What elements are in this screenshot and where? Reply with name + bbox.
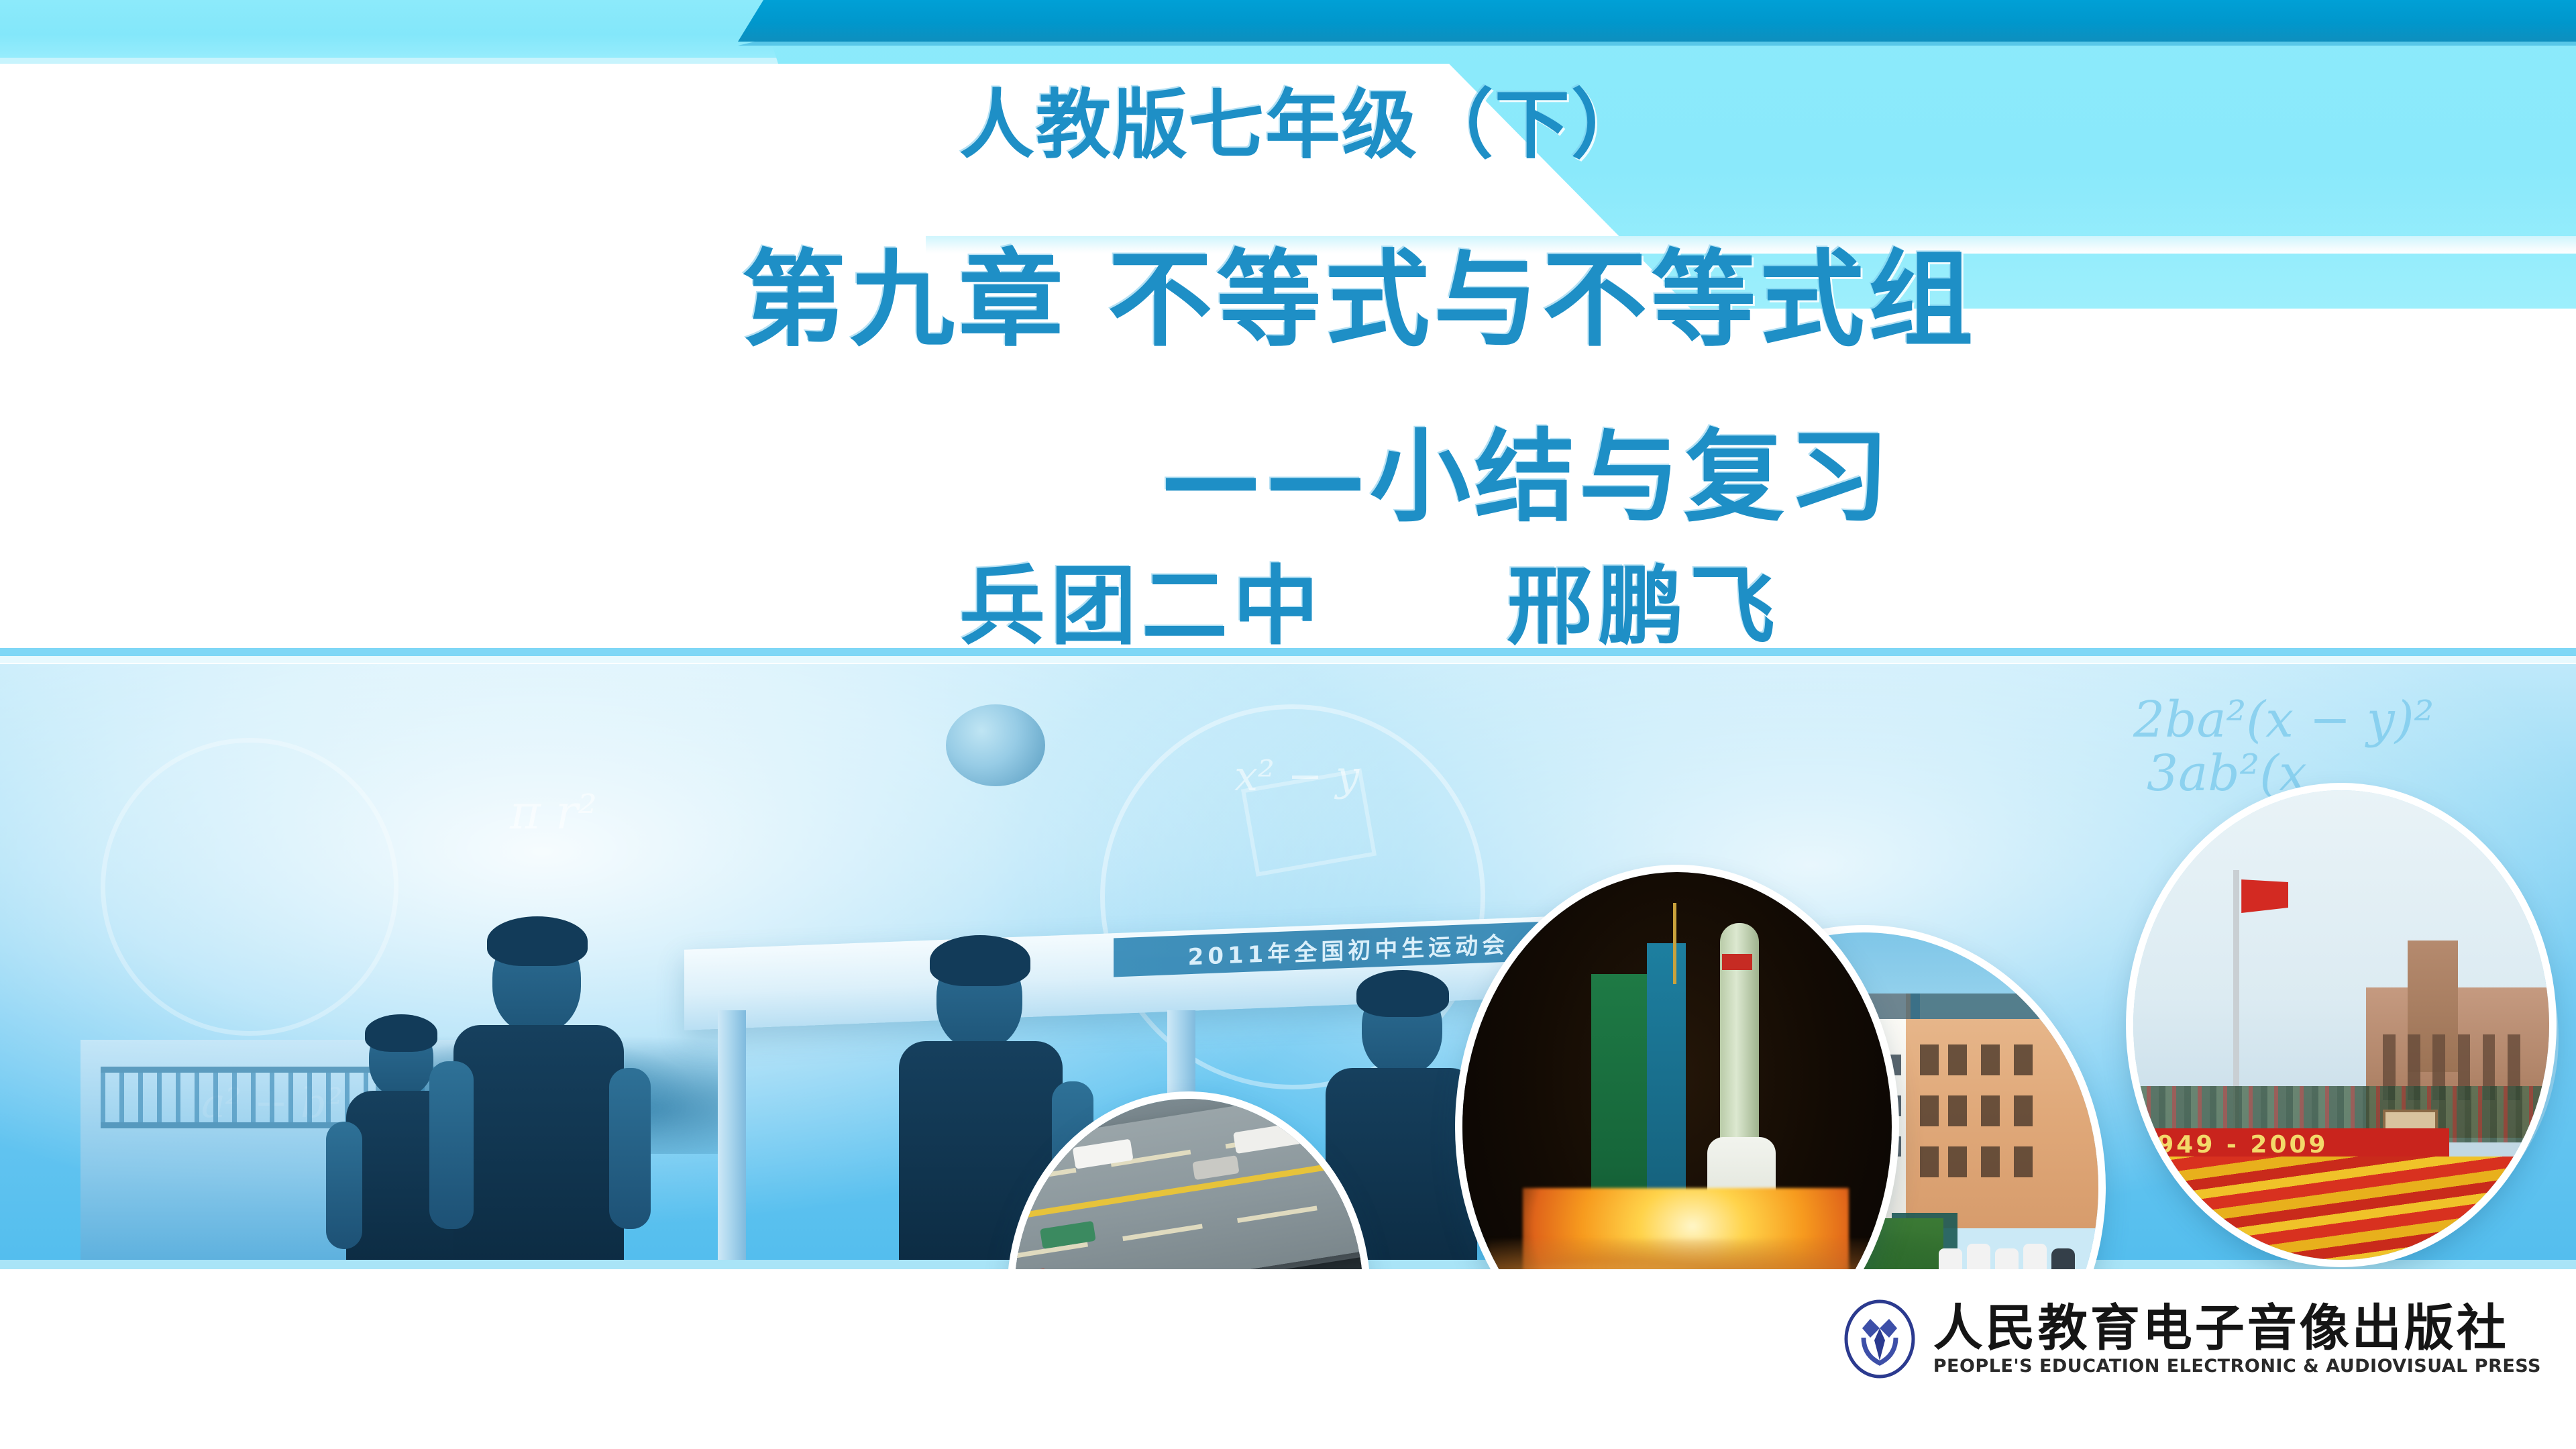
publisher-name-cn: 人民教育电子音像出版社 [1933, 1303, 2541, 1353]
band-top-divider [0, 648, 2576, 656]
people-education-emblem-icon [1843, 1299, 1916, 1379]
canopy-pillar [718, 1010, 746, 1260]
publisher-logo: 人民教育电子音像出版社 PEOPLE'S EDUCATION ELECTRONI… [1843, 1299, 2541, 1379]
author-line: 兵团二中 邢鹏飞 [959, 537, 1780, 661]
slide-footer: 人民教育电子音像出版社 PEOPLE'S EDUCATION ELECTRONI… [0, 1269, 2576, 1449]
edition-label: 人教版七年级（下） [959, 64, 1648, 173]
watermark-circle-left [101, 738, 398, 1036]
anniversary-banner-text: 1949 - 2009 [2137, 1131, 2328, 1159]
running-student [429, 927, 671, 1260]
chapter-subtitle: ——小结与复习 [1161, 396, 1893, 541]
sports-ball [946, 704, 1045, 786]
band-top-divider-light [0, 656, 2576, 663]
publisher-name-en: PEOPLE'S EDUCATION ELECTRONIC & AUDIOVIS… [1933, 1357, 2541, 1375]
title-zone: 人教版七年级（下） 第九章 不等式与不等式组 ——小结与复习 兵团二中 邢鹏飞 [0, 0, 2576, 657]
tiananmen-square-photo: 1949 - 2009 [2133, 790, 2549, 1260]
chapter-title: 第九章 不等式与不等式组 [741, 215, 1977, 366]
presentation-slide: 人教版七年级（下） 第九章 不等式与不等式组 ——小结与复习 兵团二中 邢鹏飞 … [0, 0, 2576, 1449]
